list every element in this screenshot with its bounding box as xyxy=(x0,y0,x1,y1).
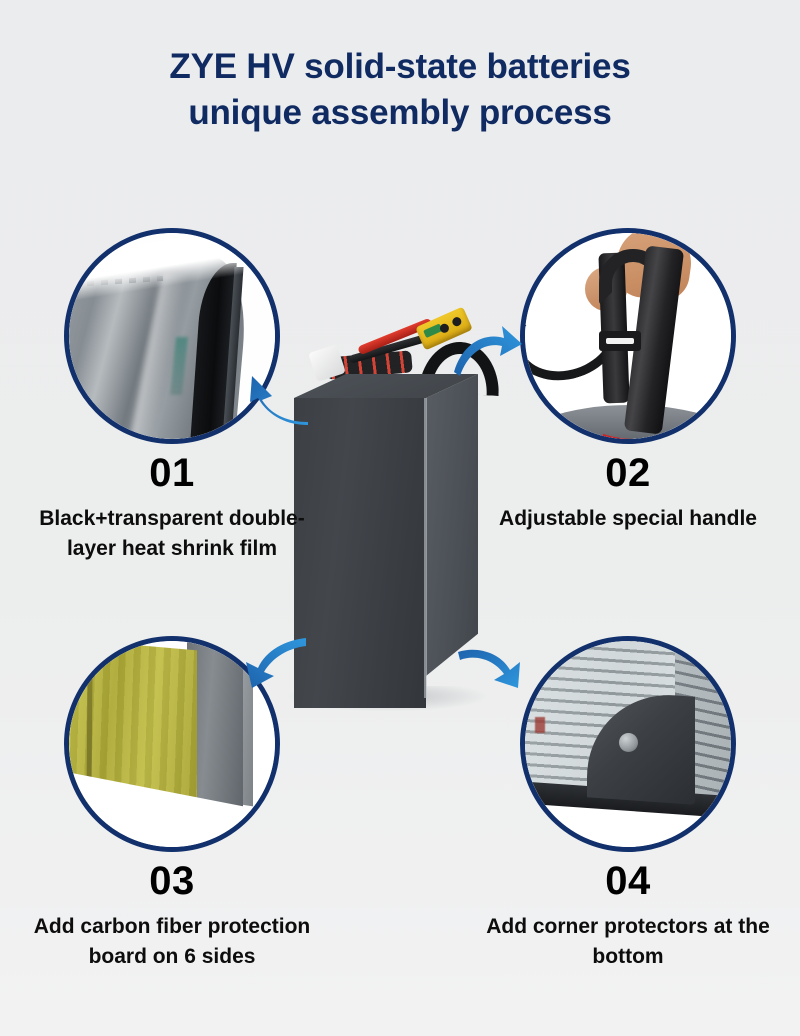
step-04-photo-circle xyxy=(520,636,736,852)
step-02-caption: 02 Adjustable special handle xyxy=(478,452,778,534)
battery-side-face xyxy=(426,374,478,676)
title-line-1: ZYE HV solid-state batteries xyxy=(40,44,760,90)
corner-protector-photo xyxy=(525,641,731,847)
step-01-number: 01 xyxy=(22,452,322,494)
step-04-text: Add corner protectors at the bottom xyxy=(478,912,778,972)
step-02-text: Adjustable special handle xyxy=(478,504,778,534)
step-03-number: 03 xyxy=(22,860,322,902)
battery-edge-highlight xyxy=(424,398,427,698)
infographic-page: ZYE HV solid-state batteries unique asse… xyxy=(0,0,800,1036)
step-03-caption: 03 Add carbon fiber protection board on … xyxy=(22,860,322,972)
step-02-photo-circle xyxy=(520,228,736,444)
step-04-number: 04 xyxy=(478,860,778,902)
handle-buckle xyxy=(599,331,641,351)
step-02-number: 02 xyxy=(478,452,778,494)
step-01-text: Black+transparent double-layer heat shri… xyxy=(22,504,322,564)
arrow-to-step-02 xyxy=(452,326,524,385)
page-title: ZYE HV solid-state batteries unique asse… xyxy=(0,44,800,136)
arrow-to-step-04 xyxy=(456,638,526,699)
adjustable-handle-photo xyxy=(525,233,731,439)
step-04-caption: 04 Add corner protectors at the bottom xyxy=(478,860,778,972)
title-line-2: unique assembly process xyxy=(40,90,760,136)
corner-screw xyxy=(619,733,638,752)
step-01-caption: 01 Black+transparent double-layer heat s… xyxy=(22,452,322,564)
arrow-to-step-03 xyxy=(242,636,308,697)
red-marking xyxy=(535,717,545,733)
heat-shrink-film-photo xyxy=(69,233,275,439)
step-03-text: Add carbon fiber protection board on 6 s… xyxy=(22,912,322,972)
arrow-to-step-01 xyxy=(246,368,310,431)
